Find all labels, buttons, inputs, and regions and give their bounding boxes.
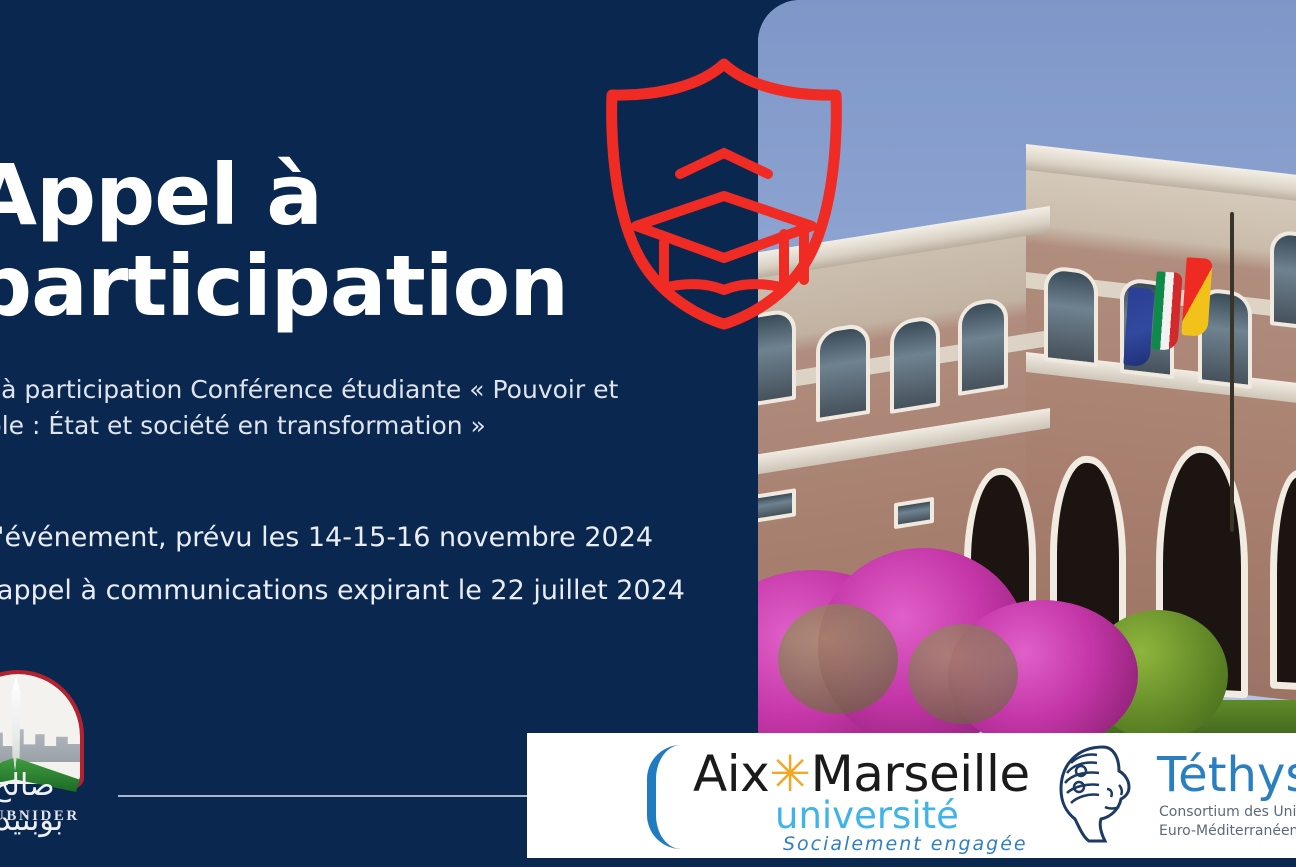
amu-word-aix: Aix <box>693 745 769 803</box>
page-title: Appel à participation <box>0 150 672 331</box>
subtitle-line-1: Appel à participation Conférence étudian… <box>0 372 622 408</box>
amu-subtitle: université <box>775 794 959 837</box>
tethys-logo: Téthys Consortium des Universités Euro-M… <box>1049 741 1296 853</box>
detail-line-event-dates: L'événement, prévu les 14-15-16 novembre… <box>0 524 742 551</box>
amu-tagline: Socialement engagée <box>783 833 1028 855</box>
detail-lines: L'événement, prévu les 14-15-16 novembre… <box>0 524 742 630</box>
window-upper <box>1044 265 1098 367</box>
window-upper <box>958 296 1008 396</box>
tethys-wordmark: Téthys <box>1157 747 1296 803</box>
window-upper <box>816 322 870 423</box>
amu-bracket-icon <box>647 745 681 849</box>
bush-green <box>908 624 1018 724</box>
title-line-2: participation <box>0 241 672 332</box>
horizontal-divider <box>118 795 528 797</box>
subtitle-line-2: contrôle : État et société en transforma… <box>0 408 622 444</box>
detail-line-deadline: l'appel à communications expirant le 22 … <box>0 577 742 604</box>
tethys-head-icon <box>1049 741 1153 850</box>
tethys-subtitle: Consortium des Universités Euro-Méditerr… <box>1159 803 1296 841</box>
poster-canvas: Appel à participation Appel à participat… <box>0 0 1296 867</box>
aix-marseille-universite-logo: Aix✳Marseille université Socialement eng… <box>647 739 1107 855</box>
logo-arabic-name: صالح بوبنيدر <box>0 768 98 838</box>
tethys-subtitle-line-2: Euro-Méditerranéennes <box>1159 822 1296 841</box>
window-upper <box>1270 229 1296 331</box>
logo-latin-name: BOUBNIDER <box>0 808 98 825</box>
window-upper <box>890 314 940 414</box>
bush-green <box>778 604 898 714</box>
shield-graduation-cap-icon <box>596 56 852 332</box>
subtitle: Appel à participation Conférence étudian… <box>0 372 622 443</box>
title-line-1: Appel à <box>0 150 672 241</box>
partner-logo-banner: Aix✳Marseille université Socialement eng… <box>527 733 1296 858</box>
flag-pole <box>1230 212 1234 532</box>
university-constantine-logo: صالح بوبنيدر BOUBNIDER <box>0 668 114 848</box>
tethys-subtitle-line-1: Consortium des Universités <box>1159 803 1296 822</box>
